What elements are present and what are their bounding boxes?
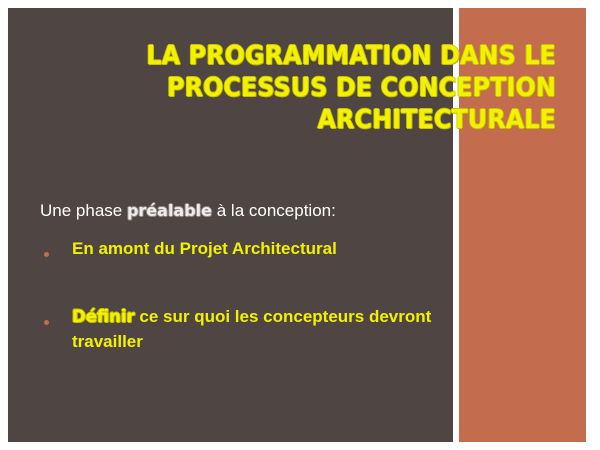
lead-text-before: Une phase [40, 201, 127, 220]
lead-text-after: à la conception: [212, 201, 336, 220]
list-item: En amont du Projet Architectural [40, 236, 452, 262]
body-lead-line: Une phase préalable à la conception: [40, 200, 452, 222]
bullet-2-emphasis: Définir [72, 307, 135, 326]
title-line-1: LA PROGRAMMATION DANS LE [95, 40, 556, 72]
bullet-1-text: En amont du Projet Architectural [72, 236, 452, 261]
slide-body: Une phase préalable à la conception: En … [40, 200, 452, 354]
lead-text-emphasis: préalable [127, 201, 212, 220]
bullet-dot-icon [40, 304, 72, 330]
title-line-3: ARCHITECTURALE [95, 104, 556, 136]
slide-canvas: LA PROGRAMMATION DANS LE PROCESSUS DE CO… [0, 0, 600, 450]
slide-title: LA PROGRAMMATION DANS LE PROCESSUS DE CO… [60, 40, 556, 136]
bullet-dot-icon [40, 236, 72, 262]
list-item: Définir ce sur quoi les concepteurs devr… [40, 304, 452, 354]
title-line-2: PROCESSUS DE CONCEPTION [95, 72, 556, 104]
bullet-2-text: Définir ce sur quoi les concepteurs devr… [72, 304, 452, 354]
